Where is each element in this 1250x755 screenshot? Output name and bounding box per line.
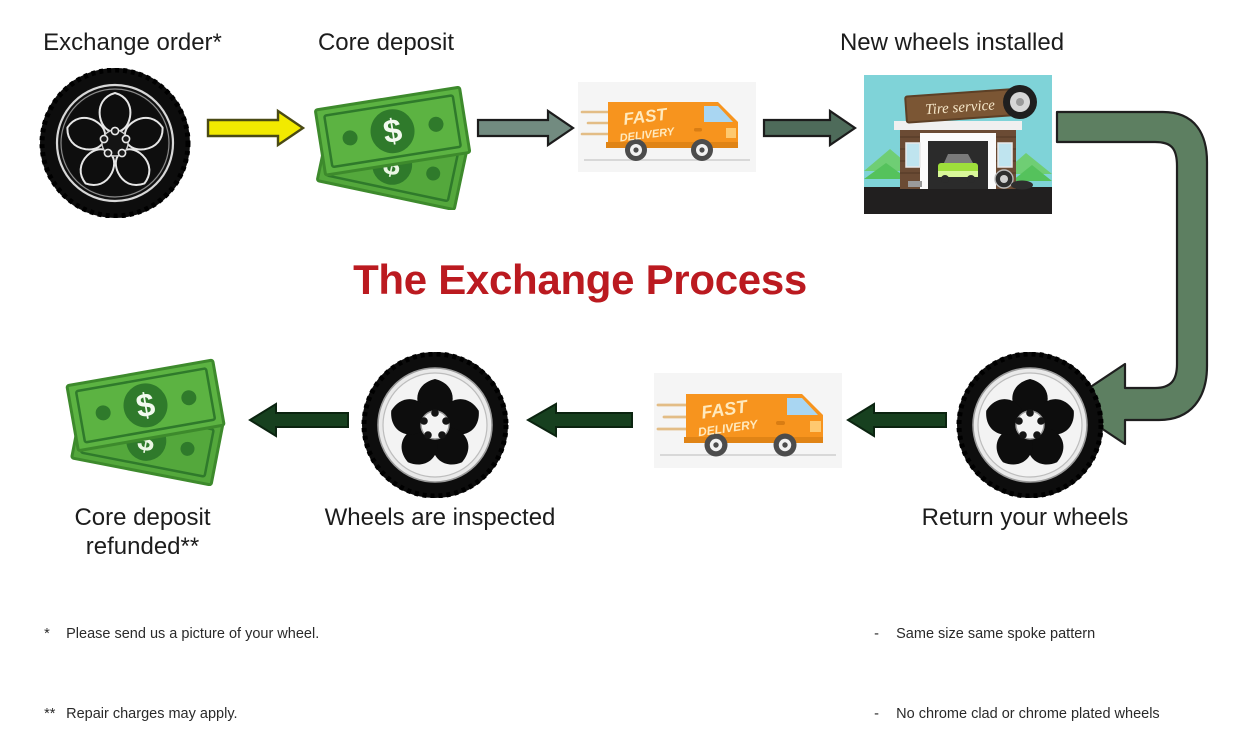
- wheel-icon-return-wheels: [950, 352, 1110, 498]
- footnote-marker: **: [44, 701, 66, 728]
- arrow-shipping-to-installed: [762, 108, 858, 148]
- footnote-text: Same size same spoke pattern: [896, 626, 1095, 642]
- tire-service-shop-icon: Tire service: [864, 75, 1052, 214]
- wheel-icon-exchange-order: [35, 68, 195, 218]
- money-icon-core-deposit: $ $: [306, 76, 482, 210]
- arrow-inspected-to-refunded: [246, 400, 350, 440]
- footnote-text: Repair charges may apply.: [66, 706, 237, 722]
- step-label-deposit-refunded: Core deposit refunded**: [30, 503, 255, 562]
- step-label-wheels-inspected: Wheels are inspected: [295, 503, 585, 532]
- arrow-deposit-to-shipping: [476, 108, 576, 148]
- arrow-shipping-to-inspected: [524, 400, 634, 440]
- delivery-truck-icon-shipping-out: FAST DELIVERY: [578, 82, 756, 172]
- footnote-left-1: *Please send us a picture of your wheel.: [28, 594, 319, 674]
- step-label-core-deposit: Core deposit: [278, 28, 494, 57]
- footnote-right-1: -Same size same spoke pattern: [858, 594, 1160, 674]
- page-title: The Exchange Process: [325, 256, 835, 304]
- step-label-new-wheels-installed: New wheels installed: [800, 28, 1104, 57]
- arrow-return-to-shipping: [844, 400, 948, 440]
- wheel-icon-wheels-inspected: [355, 352, 515, 498]
- arrow-exchange-to-deposit: [206, 108, 306, 148]
- footnote-right-2: -No chrome clad or chrome plated wheels: [858, 674, 1160, 754]
- footnote-text: No chrome clad or chrome plated wheels: [896, 706, 1160, 722]
- footnotes-right: -Same size same spoke pattern -No chrome…: [858, 594, 1160, 755]
- money-icon-deposit-refunded: $ $: [58, 350, 238, 486]
- footnote-marker: *: [44, 621, 66, 648]
- footnote-left-2: **Repair charges may apply.: [28, 674, 319, 754]
- step-label-exchange-order: Exchange order*: [10, 28, 255, 57]
- footnote-marker: -: [874, 621, 896, 648]
- footnote-marker: -: [874, 701, 896, 728]
- step-label-return-wheels: Return your wheels: [890, 503, 1160, 532]
- footnotes-left: *Please send us a picture of your wheel.…: [28, 594, 319, 755]
- footnote-text: Please send us a picture of your wheel.: [66, 626, 319, 642]
- delivery-truck-icon-shipping-back: FAST DELIVERY: [654, 373, 842, 468]
